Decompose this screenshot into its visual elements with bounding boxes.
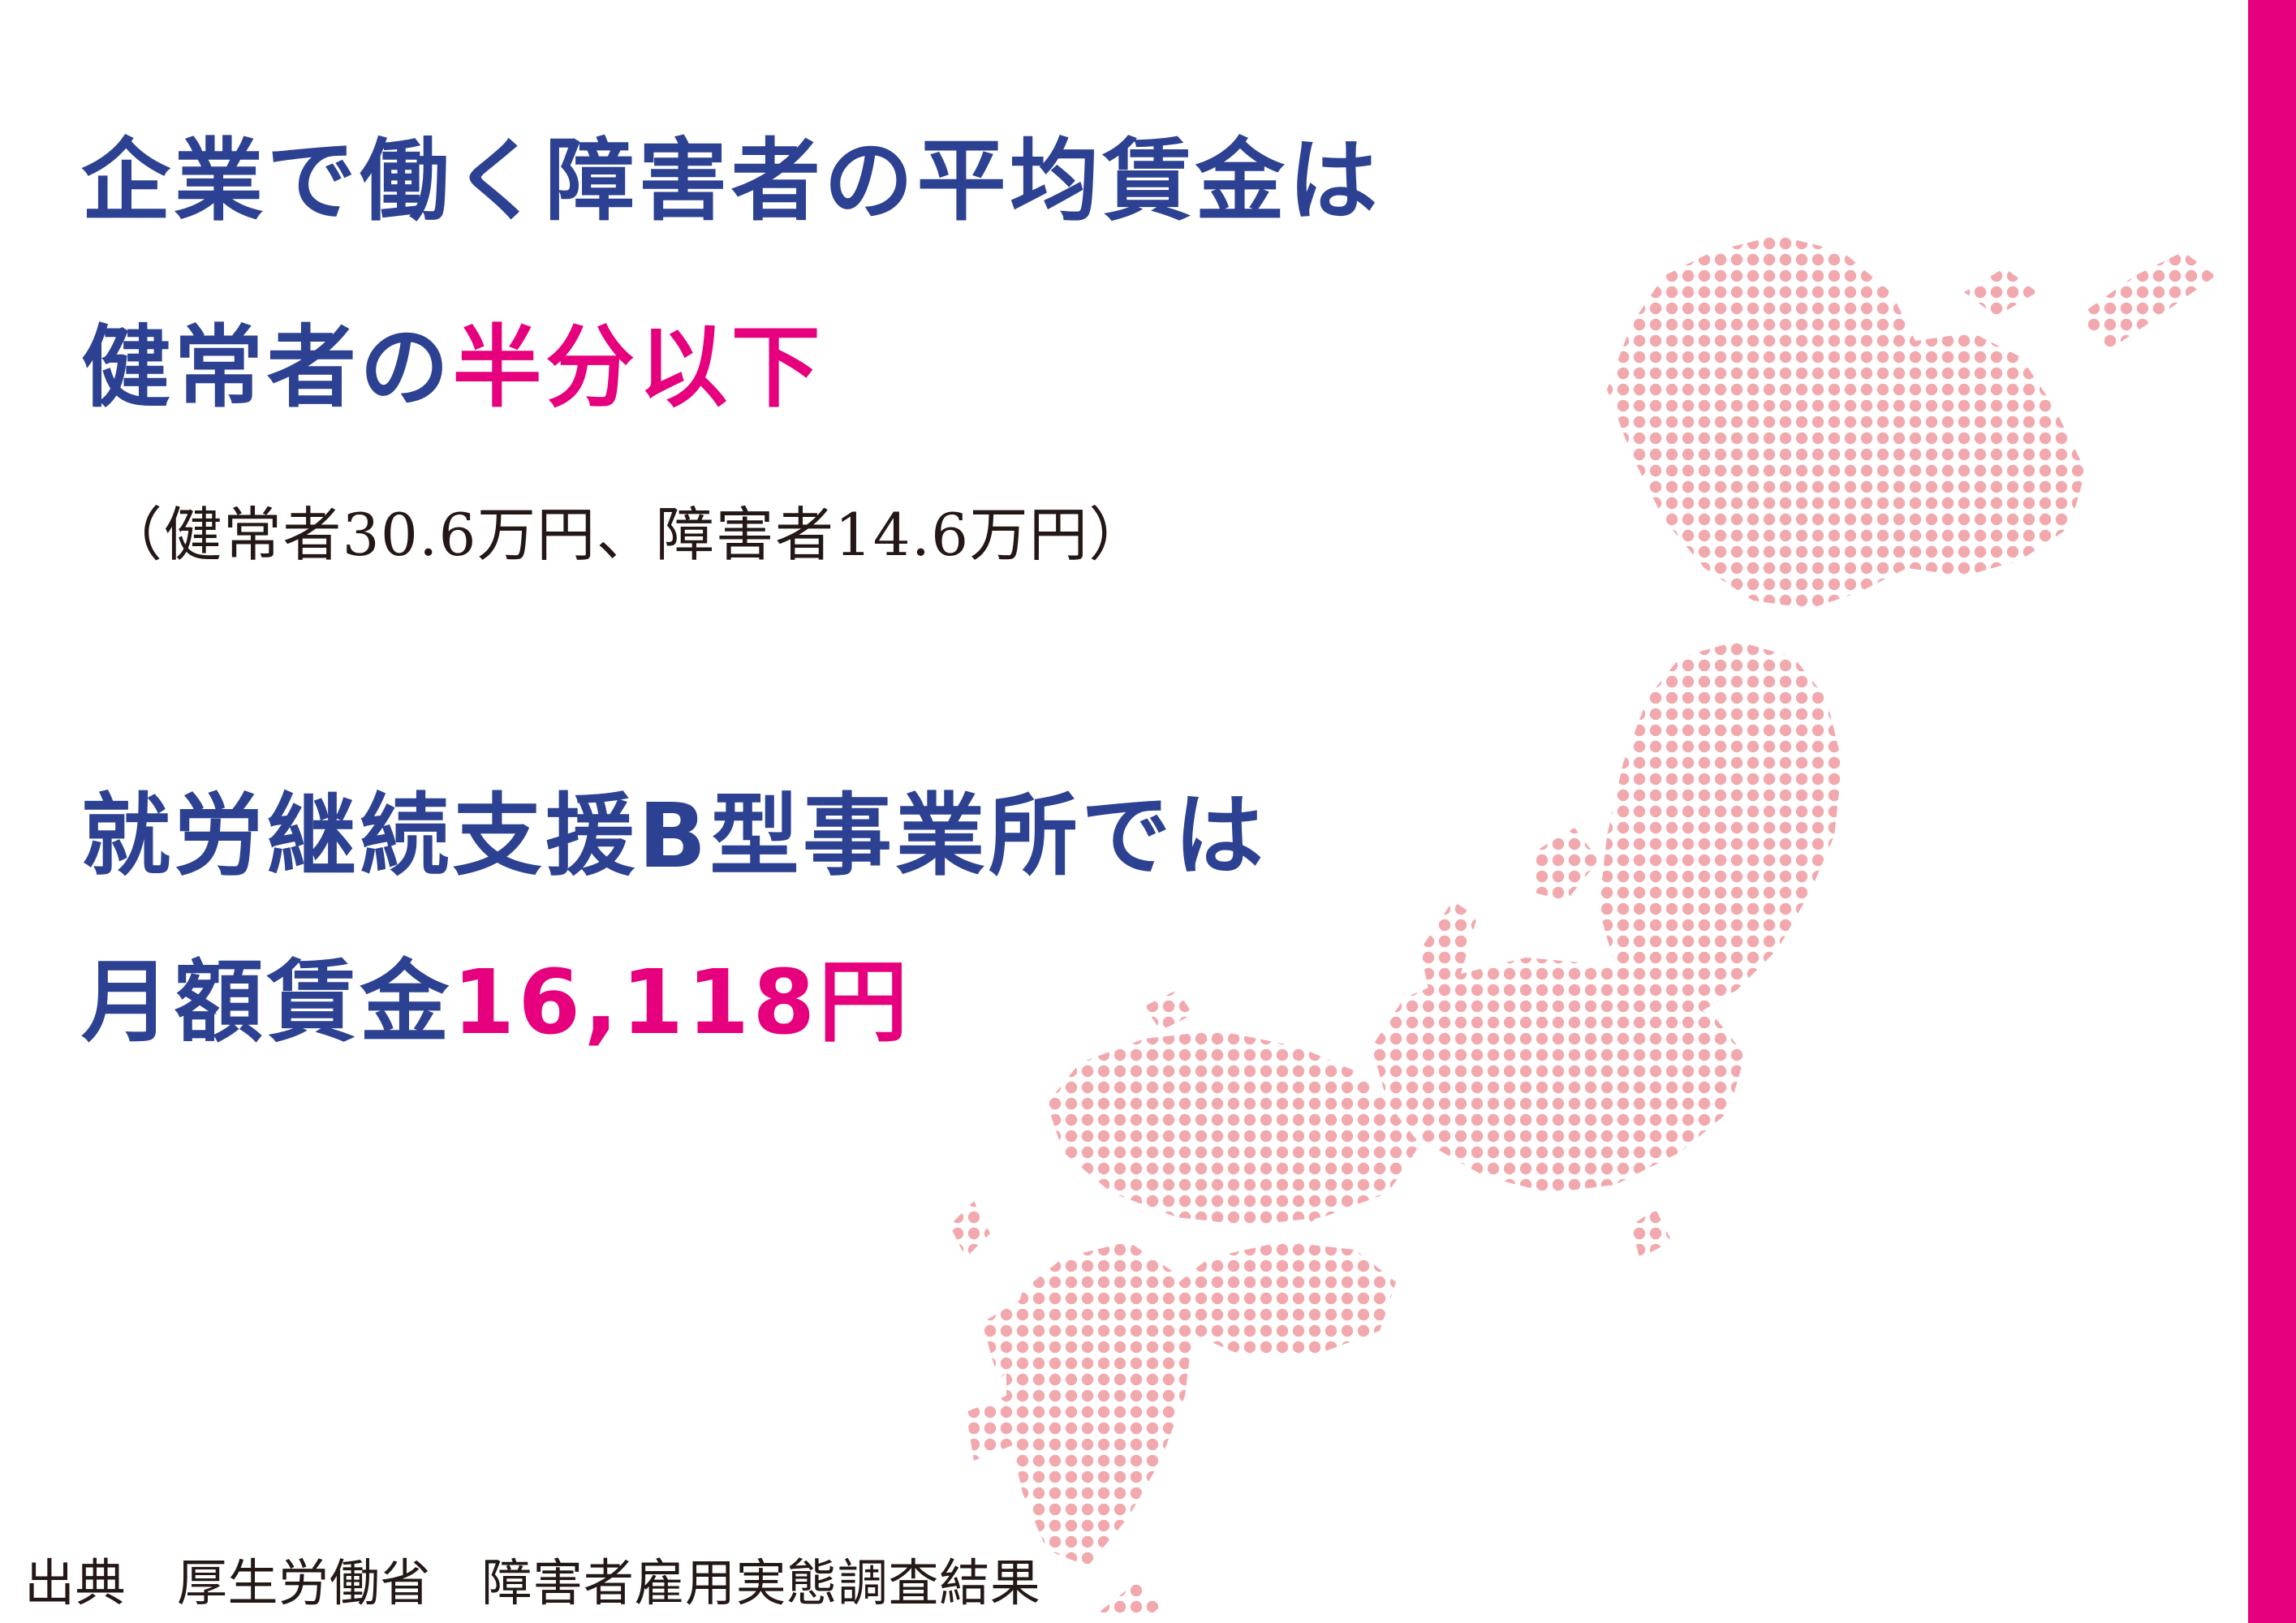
right-accent-bar [2248,0,2296,1623]
headline-line-1: 企業で働く障害者の平均賃金は [81,136,1381,226]
slide-canvas: 企業で働く障害者の平均賃金は 健常者の半分以下 （健常者30.6万円、障害者14… [0,0,2296,1623]
headline-line-3: 就労継続支援B型事業所では [81,791,1267,880]
text-content-block: 企業で働く障害者の平均賃金は 健常者の半分以下 （健常者30.6万円、障害者14… [0,0,1786,1623]
source-citation: 出典 厚生労働省 障害者雇用実態調査結果 [24,1542,1040,1615]
headline-line-2-highlight: 半分以下 [453,316,825,420]
headline-line-2: 健常者の半分以下 [81,323,824,412]
headline-line-2-prefix: 健常者の [81,316,453,420]
wage-comparison-note: （健常者30.6万円、障害者14.6万円） [104,487,1148,572]
headline-line-4-prefix: 月額賃金 [81,950,453,1054]
headline-line-4: 月額賃金16,118円 [81,958,911,1047]
headline-line-4-highlight: 16,118円 [453,950,911,1054]
